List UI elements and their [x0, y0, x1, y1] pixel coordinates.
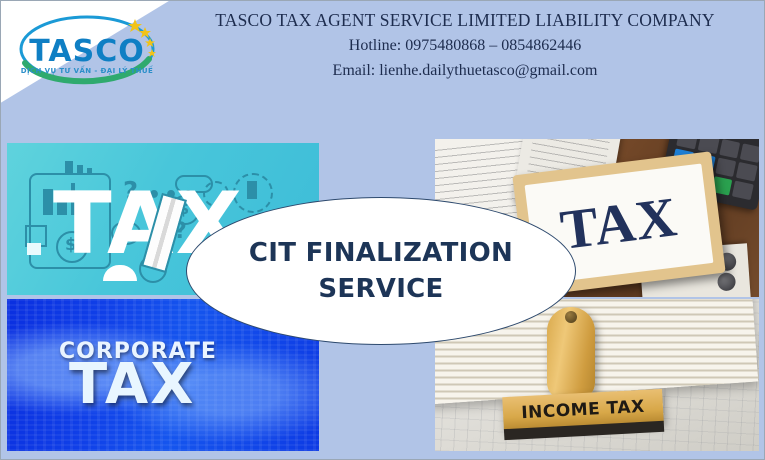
title-oval: CIT FINALIZATION SERVICE — [186, 197, 576, 345]
page-title-line-1: CIT FINALIZATION — [249, 235, 513, 271]
header-contact-block: TASCO TAX AGENT SERVICE LIMITED LIABILIT… — [171, 7, 759, 83]
company-name: TASCO TAX AGENT SERVICE LIMITED LIABILIT… — [171, 7, 759, 33]
page-header: TASCO DỊCH VỤ TƯ VẤN - ĐẠI LÝ THUẾ TASCO… — [1, 1, 764, 133]
tax-label: TAX — [69, 357, 195, 413]
svg-text:DỊCH VỤ TƯ VẤN - ĐẠI LÝ THUẾ: DỊCH VỤ TƯ VẤN - ĐẠI LÝ THUẾ — [21, 65, 153, 75]
tasco-logo: TASCO DỊCH VỤ TƯ VẤN - ĐẠI LÝ THUẾ — [9, 9, 169, 95]
email-text: Email: lienhe.dailythuetasco@gmail.com — [171, 58, 759, 83]
tick-a-icon — [65, 161, 73, 175]
bar-1-icon — [43, 189, 53, 215]
clock-hand-icon — [247, 181, 257, 199]
page-title: CIT FINALIZATION SERVICE — [223, 235, 539, 307]
small-card-icon — [27, 243, 41, 255]
hotline-text: Hotline: 0975480868 – 0854862446 — [171, 33, 759, 58]
stamp-knob-icon — [565, 311, 577, 323]
stamp-block: INCOME TAX — [502, 389, 664, 431]
page-title-line-2: SERVICE — [249, 271, 513, 307]
poster-page: TASCO DỊCH VỤ TƯ VẤN - ĐẠI LÝ THUẾ TASCO… — [0, 0, 765, 460]
coin-2-icon — [717, 272, 736, 291]
svg-text:TASCO: TASCO — [29, 34, 144, 69]
